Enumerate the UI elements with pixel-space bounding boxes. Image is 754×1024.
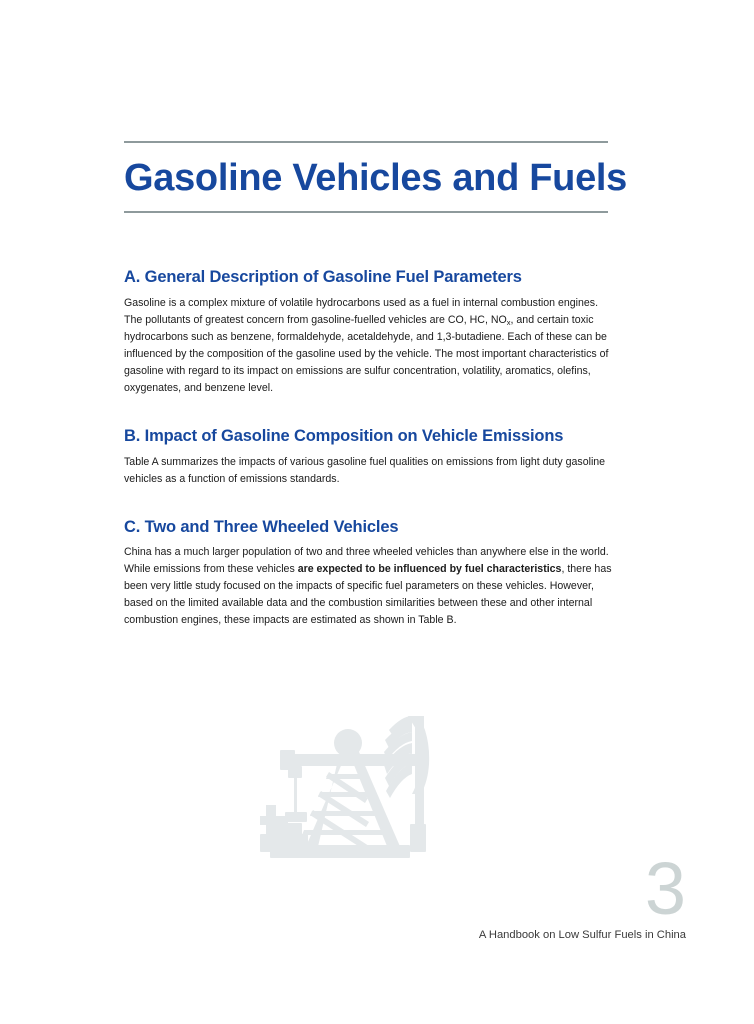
page-number: 3 [645,852,686,926]
document-content: A. General Description of Gasoline Fuel … [124,268,612,629]
section-a-body: Gasoline is a complex mixture of volatil… [124,295,612,397]
section-b-body: Table A summarizes the impacts of variou… [124,454,612,488]
title-block: Gasoline Vehicles and Fuels [124,141,608,213]
section-c-body: China has a much larger population of tw… [124,544,612,629]
page-title: Gasoline Vehicles and Fuels [124,143,608,211]
section-a-heading: A. General Description of Gasoline Fuel … [124,268,612,288]
section-c-heading: C. Two and Three Wheeled Vehicles [124,518,612,538]
section-b: B. Impact of Gasoline Composition on Veh… [124,427,612,488]
section-a: A. General Description of Gasoline Fuel … [124,268,612,397]
nox-subscript: x [507,318,511,327]
section-c-body-emphasis: are expected to be influenced by fuel ch… [298,563,562,575]
oil-pumpjack-icon [258,712,448,860]
section-c: C. Two and Three Wheeled Vehicles China … [124,518,612,630]
footer-text: A Handbook on Low Sulfur Fuels in China [479,929,686,942]
document-page: Gasoline Vehicles and Fuels A. General D… [0,0,754,1024]
section-b-heading: B. Impact of Gasoline Composition on Veh… [124,427,612,447]
title-rule-bottom [124,211,608,213]
